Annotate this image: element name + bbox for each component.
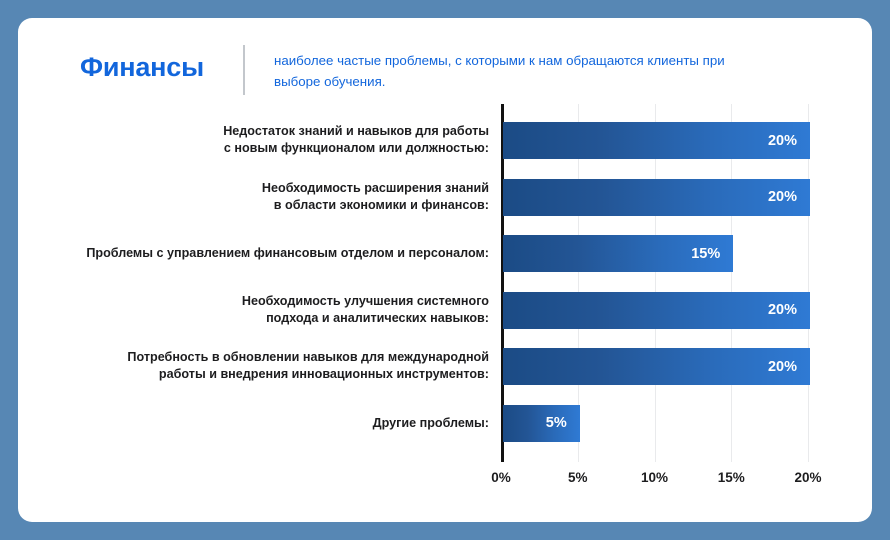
bar-row: Потребность в обновлении навыков для меж… bbox=[18, 348, 872, 385]
bar-row: Проблемы с управлением финансовым отдело… bbox=[18, 235, 872, 272]
x-tick-label: 15% bbox=[701, 470, 761, 485]
x-tick-label: 0% bbox=[471, 470, 531, 485]
bar-chart: Недостаток знаний и навыков для работыс … bbox=[18, 18, 872, 522]
bar-category-label: Недостаток знаний и навыков для работыс … bbox=[59, 123, 489, 157]
bar-category-label: Необходимость расширения знанийв области… bbox=[59, 180, 489, 214]
bar-value-label: 20% bbox=[768, 133, 810, 149]
bar-row: Необходимость расширения знанийв области… bbox=[18, 179, 872, 216]
bar-rows: Недостаток знаний и навыков для работыс … bbox=[18, 18, 872, 522]
bar: 20% bbox=[503, 122, 810, 159]
bar: 20% bbox=[503, 348, 810, 385]
bar-row: Необходимость улучшения системногоподход… bbox=[18, 292, 872, 329]
bar-row: Недостаток знаний и навыков для работыс … bbox=[18, 122, 872, 159]
x-tick-label: 10% bbox=[625, 470, 685, 485]
bar-value-label: 15% bbox=[691, 246, 733, 262]
x-tick-label: 20% bbox=[778, 470, 838, 485]
bar-category-label: Необходимость улучшения системногоподход… bbox=[59, 293, 489, 327]
bar: 15% bbox=[503, 235, 733, 272]
bar-value-label: 5% bbox=[546, 415, 580, 431]
bar-category-label: Другие проблемы: bbox=[59, 415, 489, 432]
bar-value-label: 20% bbox=[768, 189, 810, 205]
bar-row: Другие проблемы:5% bbox=[18, 405, 872, 442]
bar: 20% bbox=[503, 292, 810, 329]
bar-category-label: Потребность в обновлении навыков для меж… bbox=[59, 349, 489, 383]
bar: 20% bbox=[503, 179, 810, 216]
outer-frame: Финансы наиболее частые проблемы, с кото… bbox=[0, 0, 890, 540]
x-axis-ticks: 0%5%10%15%20% bbox=[501, 470, 808, 492]
slide-card: Финансы наиболее частые проблемы, с кото… bbox=[18, 18, 872, 522]
x-tick-label: 5% bbox=[548, 470, 608, 485]
bar-category-label: Проблемы с управлением финансовым отдело… bbox=[59, 245, 489, 262]
bar: 5% bbox=[503, 405, 580, 442]
bar-value-label: 20% bbox=[768, 359, 810, 375]
bar-value-label: 20% bbox=[768, 302, 810, 318]
